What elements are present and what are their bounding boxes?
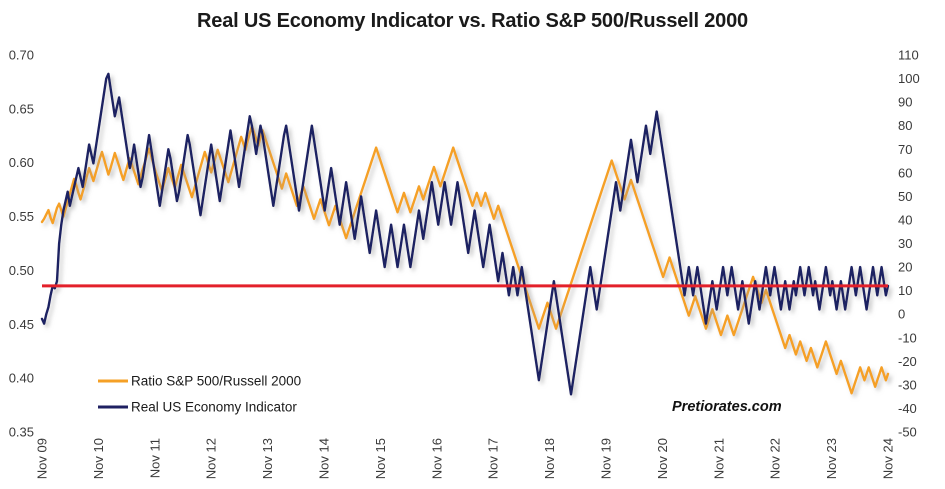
x-axis-tick-label: Nov 12 [204,438,219,479]
left-axis: 0.350.400.450.500.550.600.650.70 [9,48,34,440]
series-line-indicator [42,74,888,394]
x-axis-tick-label: Nov 16 [429,438,444,479]
right-axis-tick-label: 100 [898,71,920,86]
x-axis-tick-label: Nov 14 [317,438,332,479]
right-axis-tick-label: 0 [898,307,905,322]
left-axis-tick-label: 0.70 [9,48,34,63]
left-axis-tick-label: 0.55 [9,209,34,224]
right-axis-tick-label: 30 [898,236,912,251]
left-axis-tick-label: 0.45 [9,317,34,332]
chart-plot: 0.350.400.450.500.550.600.650.70 -50-40-… [0,0,945,489]
x-axis-tick-label: Nov 13 [260,438,275,479]
left-axis-tick-label: 0.40 [9,371,34,386]
right-axis: -50-40-30-20-100102030405060708090100110 [898,48,920,440]
x-axis-tick-label: Nov 15 [373,438,388,479]
right-axis-tick-label: 80 [898,118,912,133]
right-axis-tick-label: 10 [898,283,912,298]
right-axis-tick-label: 40 [898,212,912,227]
series-line-ratio [42,126,888,393]
right-axis-tick-label: -30 [898,377,917,392]
left-axis-tick-label: 0.50 [9,263,34,278]
x-axis-tick-label: Nov 11 [147,438,162,478]
x-axis-tick-label: Nov 21 [711,438,726,479]
x-axis-tick-label: Nov 18 [542,438,557,479]
left-axis-tick-label: 0.65 [9,101,34,116]
x-axis-tick-label: Nov 19 [599,438,614,479]
x-axis: Nov 09Nov 10Nov 11Nov 12Nov 13Nov 14Nov … [35,438,896,479]
x-axis-tick-label: Nov 20 [655,438,670,479]
right-axis-tick-label: 20 [898,260,912,275]
watermark: Pretiorates.com [672,399,782,415]
right-axis-tick-label: -20 [898,354,917,369]
legend-label: Real US Economy Indicator [131,400,297,415]
left-axis-tick-label: 0.35 [9,425,34,440]
x-axis-tick-label: Nov 09 [35,438,50,479]
right-axis-tick-label: 60 [898,165,912,180]
x-axis-tick-label: Nov 23 [824,438,839,479]
x-axis-tick-label: Nov 22 [768,438,783,479]
right-axis-tick-label: 50 [898,189,912,204]
watermark-label: Pretiorates.com [672,399,782,415]
chart-legend: Ratio S&P 500/Russell 2000Real US Econom… [98,374,301,415]
right-axis-tick-label: 70 [898,142,912,157]
right-axis-tick-label: -50 [898,425,917,440]
right-axis-tick-label: -10 [898,330,917,345]
right-axis-tick-label: -40 [898,401,917,416]
x-axis-tick-label: Nov 10 [91,438,106,479]
series-layer [42,74,888,394]
right-axis-tick-label: 110 [898,48,919,63]
right-axis-tick-label: 90 [898,95,912,110]
legend-label: Ratio S&P 500/Russell 2000 [131,374,301,389]
left-axis-tick-label: 0.60 [9,155,34,170]
x-axis-tick-label: Nov 24 [881,438,896,479]
chart-container: Real US Economy Indicator vs. Ratio S&P … [0,0,945,489]
x-axis-tick-label: Nov 17 [486,438,501,479]
